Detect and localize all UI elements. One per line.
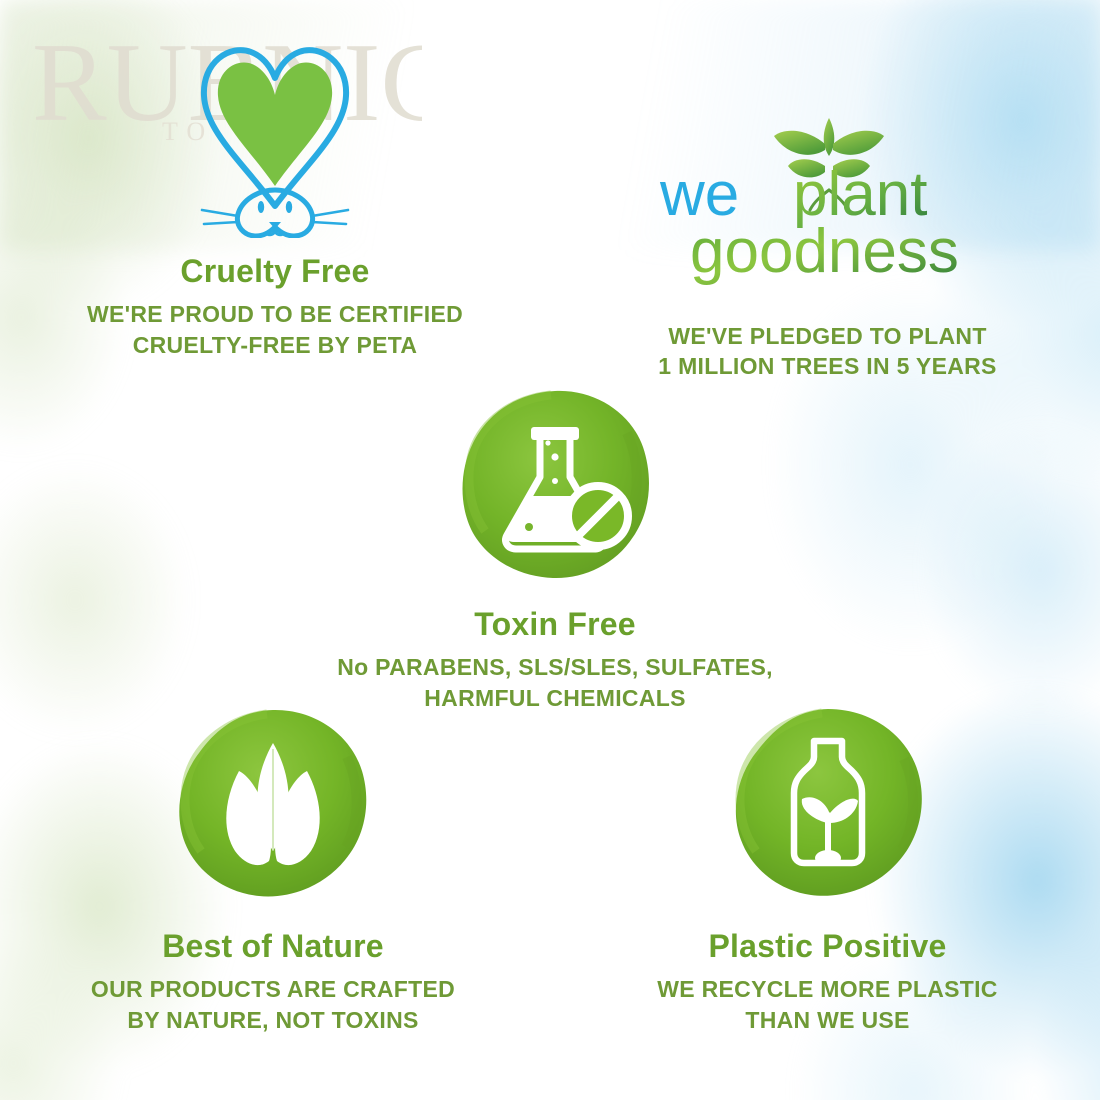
badge-title: Toxin Free (300, 607, 810, 642)
badge-description-line: BY NATURE, NOT TOXINS (18, 1005, 528, 1035)
bottle-sprout-icon (728, 705, 928, 905)
three-leaves-icon (173, 705, 373, 905)
we-plant-goodness-logo: we plant goodness (618, 110, 1038, 285)
badge-description-line: 1 MILLION TREES IN 5 YEARS (575, 351, 1080, 381)
badge-title: Plastic Positive (575, 929, 1080, 964)
badge-best-of-nature: Best of Nature OUR PRODUCTS ARE CRAFTED … (18, 705, 528, 1035)
badge-we-plant-goodness: we plant goodness WE'VE PLEDGED TO PLANT… (575, 110, 1080, 382)
badge-description-line: WE RECYCLE MORE PLASTIC (575, 974, 1080, 1004)
badge-description: WE'RE PROUD TO BE CERTIFIED CRUELTY-FREE… (20, 299, 530, 360)
badge-description-line: OUR PRODUCTS ARE CRAFTED (18, 974, 528, 1004)
no-chemicals-flask-icon (455, 385, 655, 585)
badge-title: Cruelty Free (20, 254, 530, 289)
background-wash-blue-mid (860, 380, 1100, 760)
badge-plastic-positive: Plastic Positive WE RECYCLE MORE PLASTIC… (575, 705, 1080, 1035)
badge-description-line: WE'RE PROUD TO BE CERTIFIED (20, 299, 530, 329)
badge-description-line: No PARABENS, SLS/SLES, SULFATES, (300, 652, 810, 682)
badge-title: Best of Nature (18, 929, 528, 964)
badge-description: WE'VE PLEDGED TO PLANT 1 MILLION TREES I… (575, 321, 1080, 382)
badge-cruelty-free: Cruelty Free WE'RE PROUD TO BE CERTIFIED… (20, 38, 530, 360)
badge-description-line: THAN WE USE (575, 1005, 1080, 1035)
badge-description: WE RECYCLE MORE PLASTIC THAN WE USE (575, 974, 1080, 1035)
brand-values-poster: RUBNIC TO Cruelty Free (0, 0, 1100, 1100)
badge-description-line: CRUELTY-FREE BY PETA (20, 330, 530, 360)
peta-bunny-icon (180, 38, 370, 238)
logo-word-goodness: goodness (690, 217, 959, 285)
badge-toxin-free: Toxin Free No PARABENS, SLS/SLES, SULFAT… (300, 385, 810, 713)
badge-description: OUR PRODUCTS ARE CRAFTED BY NATURE, NOT … (18, 974, 528, 1035)
badge-description: No PARABENS, SLS/SLES, SULFATES, HARMFUL… (300, 652, 810, 713)
badge-description-line: WE'VE PLEDGED TO PLANT (575, 321, 1080, 351)
